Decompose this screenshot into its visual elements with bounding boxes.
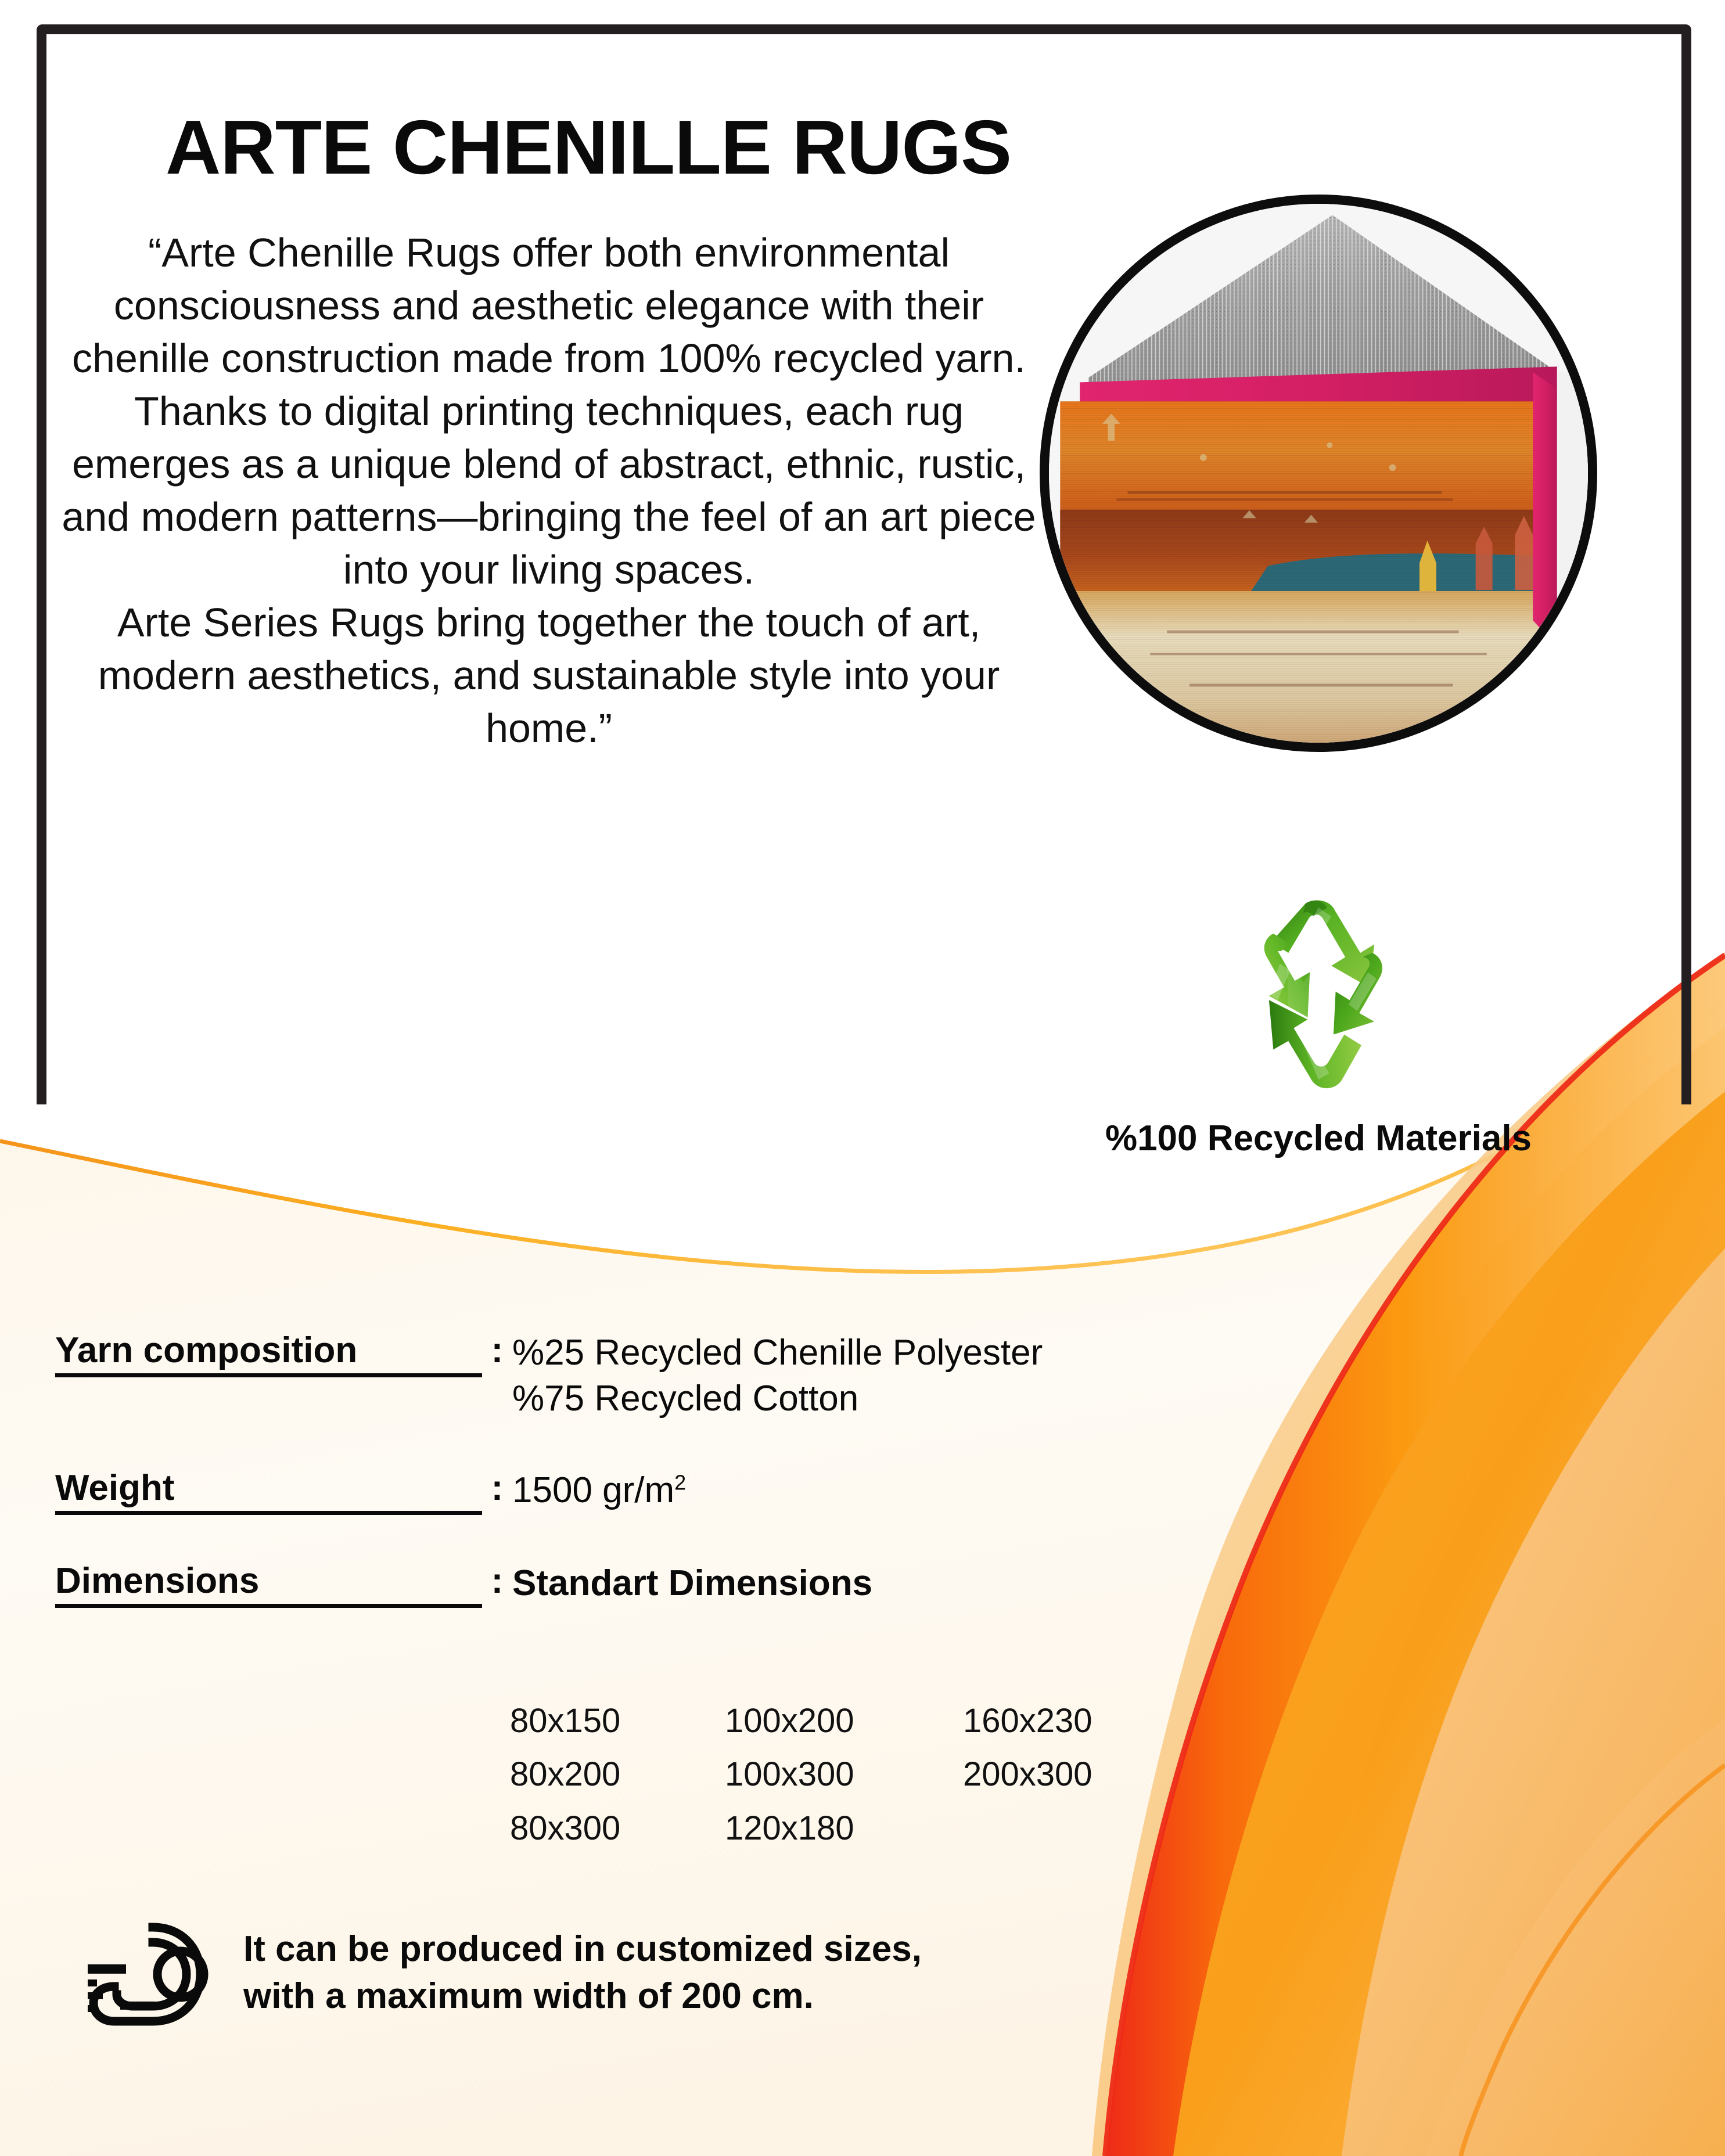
dimension-cell: 80x200 xyxy=(510,1752,725,1797)
dimension-cell: 100x300 xyxy=(725,1752,963,1797)
spec-colon-weight: : xyxy=(482,1467,512,1509)
dimension-cell: 200x300 xyxy=(963,1752,1178,1797)
dimension-cell: 100x200 xyxy=(725,1698,963,1744)
spec-colon-yarn-composition: : xyxy=(482,1330,512,1371)
spec-value-yarn-composition: %25 Recycled Chenille Polyester %75 Recy… xyxy=(512,1330,1043,1422)
dimension-cell: 80x150 xyxy=(510,1698,725,1744)
spec-row-weight: Weight:1500 gr/m2 xyxy=(55,1467,1217,1515)
specifications-list: Yarn composition:%25 Recycled Chenille P… xyxy=(55,1330,1217,1653)
custom-size-note: It can be produced in customized sizes, … xyxy=(84,1919,1188,2044)
spec-label-weight: Weight xyxy=(55,1467,482,1515)
custom-size-note-text: It can be produced in customized sizes, … xyxy=(243,1919,922,2020)
spec-label-dimensions: Dimensions xyxy=(55,1560,482,1608)
spec-row-yarn-composition: Yarn composition:%25 Recycled Chenille P… xyxy=(55,1330,1217,1422)
weight-number: 1500 gr/m xyxy=(512,1470,674,1510)
spec-value-weight: 1500 gr/m2 xyxy=(512,1467,686,1513)
dimension-cell: 80x300 xyxy=(510,1806,725,1851)
spec-value-dimensions: Standart Dimensions xyxy=(512,1560,872,1606)
dimension-cell: 160x230 xyxy=(963,1698,1178,1744)
spec-label-yarn-composition: Yarn composition xyxy=(55,1330,482,1377)
spec-row-dimensions: Dimensions:Standart Dimensions xyxy=(55,1560,1217,1608)
dimension-cell: 120x180 xyxy=(725,1806,963,1851)
recycled-materials-caption: %100 Recycled Materials xyxy=(1022,1118,1615,1159)
page-title: ARTE CHENILLE RUGS xyxy=(166,107,1037,188)
rug-illustration xyxy=(1049,204,1588,743)
spec-colon-dimensions: : xyxy=(482,1560,512,1601)
product-photo xyxy=(1040,195,1597,752)
intro-paragraph: “Arte Chenille Rugs offer both environme… xyxy=(55,226,1043,755)
standard-dimensions-grid: 80x150 100x200 160x230 80x200 100x300 20… xyxy=(510,1698,1178,1851)
recycled-materials-badge: %100 Recycled Materials xyxy=(1022,888,1615,1159)
recycle-icon xyxy=(1211,888,1426,1103)
weight-exponent: 2 xyxy=(674,1470,686,1494)
tape-measure-icon xyxy=(84,1919,224,2044)
